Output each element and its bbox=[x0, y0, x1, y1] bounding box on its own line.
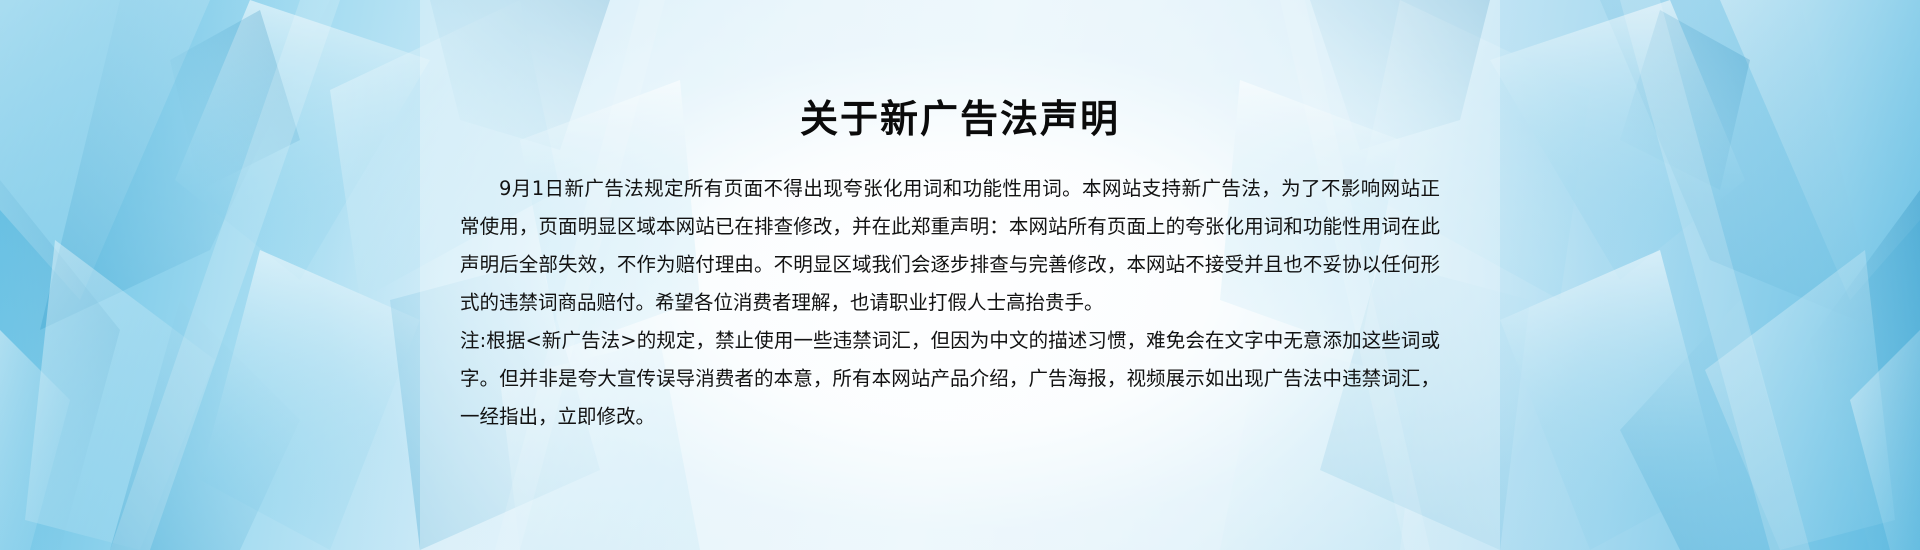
banner-content: 关于新广告法声明 9月1日新广告法规定所有页面不得出现夸张化用词和功能性用词。本… bbox=[0, 0, 1920, 550]
note-paragraph: 注:根据<新广告法>的规定，禁止使用一些违禁词汇，但因为中文的描述习惯，难免会在… bbox=[460, 322, 1440, 436]
statement-paragraph: 9月1日新广告法规定所有页面不得出现夸张化用词和功能性用词。本网站支持新广告法，… bbox=[460, 170, 1440, 322]
page-title: 关于新广告法声明 bbox=[0, 88, 1920, 143]
statement-body: 9月1日新广告法规定所有页面不得出现夸张化用词和功能性用词。本网站支持新广告法，… bbox=[460, 170, 1440, 436]
advertising-law-statement-banner: 关于新广告法声明 9月1日新广告法规定所有页面不得出现夸张化用词和功能性用词。本… bbox=[0, 0, 1920, 550]
